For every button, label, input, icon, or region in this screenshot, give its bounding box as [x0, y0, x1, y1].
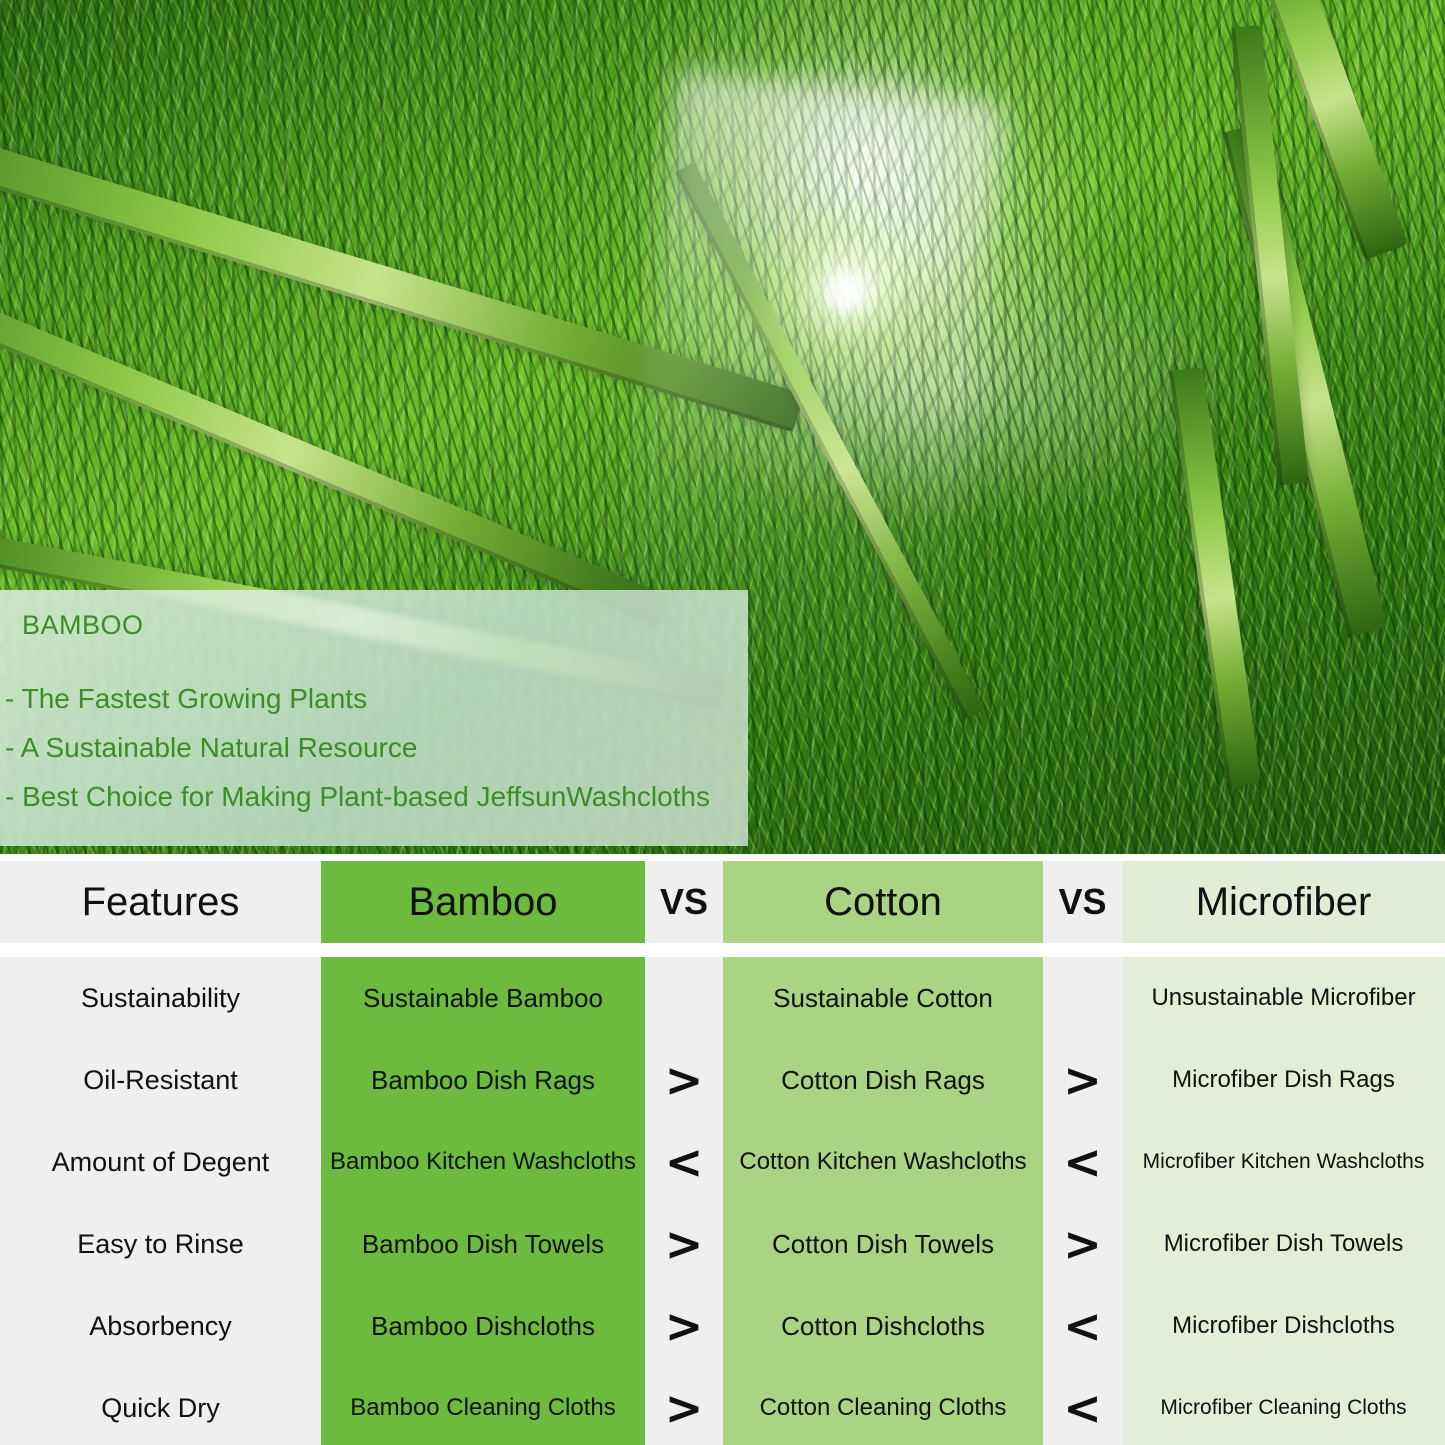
- comparison-operator-1: >: [645, 1039, 723, 1121]
- comparison-operator-1: >: [645, 1367, 723, 1445]
- vs-label-2: VS: [1043, 861, 1122, 943]
- cell-microfiber: Microfiber Kitchen Washcloths: [1122, 1121, 1445, 1203]
- overlay-title: BAMBOO: [22, 610, 144, 641]
- table-row: Absorbency Bamboo Dishcloths > Cotton Di…: [0, 1285, 1445, 1367]
- comparison-operator-1: [645, 957, 723, 1039]
- cell-bamboo: Sustainable Bamboo: [321, 957, 645, 1039]
- comparison-operator-2: <: [1043, 1121, 1122, 1203]
- row-feature-label: Sustainability: [0, 957, 321, 1039]
- vs-label-1: VS: [645, 861, 723, 943]
- comparison-operator-2: <: [1043, 1367, 1122, 1445]
- table-row: Oil-Resistant Bamboo Dish Rags > Cotton …: [0, 1039, 1445, 1121]
- cell-bamboo: Bamboo Dishcloths: [321, 1285, 645, 1367]
- comparison-operator-2: >: [1043, 1203, 1122, 1285]
- comparison-table: Features Bamboo VS Cotton VS Microfiber …: [0, 855, 1445, 1445]
- comparison-operator-2: [1043, 957, 1122, 1039]
- cell-cotton: Cotton Dishcloths: [723, 1285, 1043, 1367]
- cell-microfiber: Unsustainable Microfiber: [1122, 957, 1445, 1039]
- cell-cotton: Sustainable Cotton: [723, 957, 1043, 1039]
- list-item: - A Sustainable Natural Resource: [5, 734, 745, 762]
- cell-bamboo: Bamboo Dish Towels: [321, 1203, 645, 1285]
- row-feature-label: Absorbency: [0, 1285, 321, 1367]
- cell-microfiber: Microfiber Dish Towels: [1122, 1203, 1445, 1285]
- row-feature-label: Easy to Rinse: [0, 1203, 321, 1285]
- comparison-operator-2: >: [1043, 1039, 1122, 1121]
- cell-cotton: Cotton Cleaning Cloths: [723, 1367, 1043, 1445]
- cell-bamboo: Bamboo Kitchen Washcloths: [321, 1121, 645, 1203]
- table-row: Quick Dry Bamboo Cleaning Cloths > Cotto…: [0, 1367, 1445, 1445]
- table-row: Sustainability Sustainable Bamboo Sustai…: [0, 957, 1445, 1039]
- bamboo-info-overlay: BAMBOO - The Fastest Growing Plants - A …: [0, 590, 748, 846]
- product-infographic: BAMBOO - The Fastest Growing Plants - A …: [0, 0, 1445, 1445]
- comparison-operator-1: >: [645, 1285, 723, 1367]
- cell-bamboo: Bamboo Cleaning Cloths: [321, 1367, 645, 1445]
- cell-microfiber: Microfiber Dish Rags: [1122, 1039, 1445, 1121]
- column-header-features: Features: [0, 861, 321, 943]
- list-item: - Best Choice for Making Plant-based Jef…: [5, 783, 745, 811]
- comparison-operator-2: <: [1043, 1285, 1122, 1367]
- column-header-cotton: Cotton: [723, 861, 1043, 943]
- table-header-row: Features Bamboo VS Cotton VS Microfiber: [0, 861, 1445, 943]
- cell-cotton: Cotton Dish Towels: [723, 1203, 1043, 1285]
- column-header-bamboo: Bamboo: [321, 861, 645, 943]
- list-item: - The Fastest Growing Plants: [5, 685, 745, 713]
- row-feature-label: Amount of Degent: [0, 1121, 321, 1203]
- sunburst-icon: [607, 51, 1087, 531]
- table-row: Easy to Rinse Bamboo Dish Towels > Cotto…: [0, 1203, 1445, 1285]
- cell-microfiber: Microfiber Cleaning Cloths: [1122, 1367, 1445, 1445]
- row-feature-label: Quick Dry: [0, 1367, 321, 1445]
- comparison-operator-1: <: [645, 1121, 723, 1203]
- row-feature-label: Oil-Resistant: [0, 1039, 321, 1121]
- table-row: Amount of Degent Bamboo Kitchen Washclot…: [0, 1121, 1445, 1203]
- cell-bamboo: Bamboo Dish Rags: [321, 1039, 645, 1121]
- cell-cotton: Cotton Dish Rags: [723, 1039, 1043, 1121]
- cell-microfiber: Microfiber Dishcloths: [1122, 1285, 1445, 1367]
- overlay-bullet-list: - The Fastest Growing Plants - A Sustain…: [5, 685, 745, 832]
- comparison-operator-1: >: [645, 1203, 723, 1285]
- column-header-microfiber: Microfiber: [1122, 861, 1445, 943]
- cell-cotton: Cotton Kitchen Washcloths: [723, 1121, 1043, 1203]
